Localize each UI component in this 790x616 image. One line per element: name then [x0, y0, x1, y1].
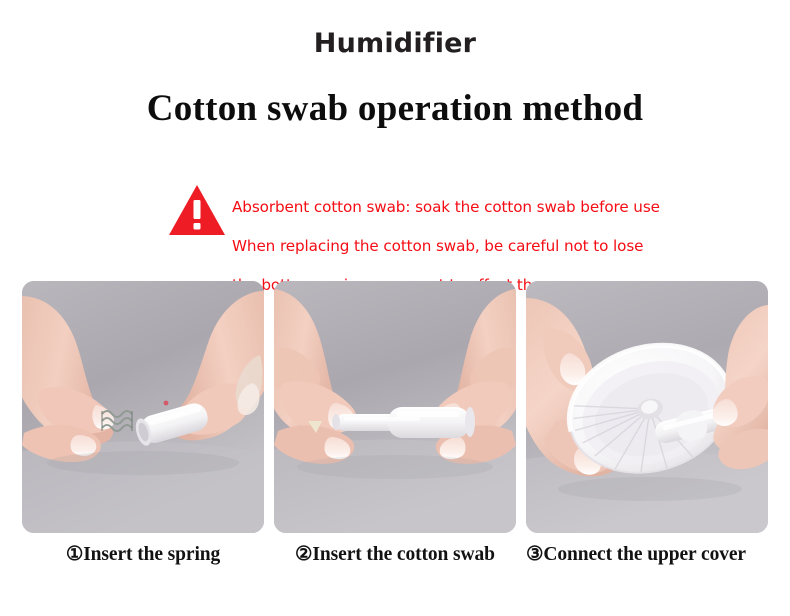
page-title: Humidifier [0, 30, 790, 57]
step-photo-strip [22, 281, 768, 533]
warning-line-2: When replacing the cotton swab, be caref… [232, 237, 660, 257]
step-caption-3: ③Connect the upper cover [526, 542, 768, 570]
step-photo-3 [526, 281, 768, 533]
step-photo-2 [274, 281, 516, 533]
step-caption-2: ②Insert the cotton swab [274, 542, 516, 570]
section-title: Cotton swab operation method [0, 90, 790, 129]
step-caption-row: ①Insert the spring ②Insert the cotton sw… [22, 542, 768, 570]
warning-line-1: Absorbent cotton swab: soak the cotton s… [232, 198, 660, 218]
warning-triangle-icon [168, 182, 226, 238]
step-caption-1: ①Insert the spring [22, 542, 264, 570]
step-photo-1 [22, 281, 264, 533]
